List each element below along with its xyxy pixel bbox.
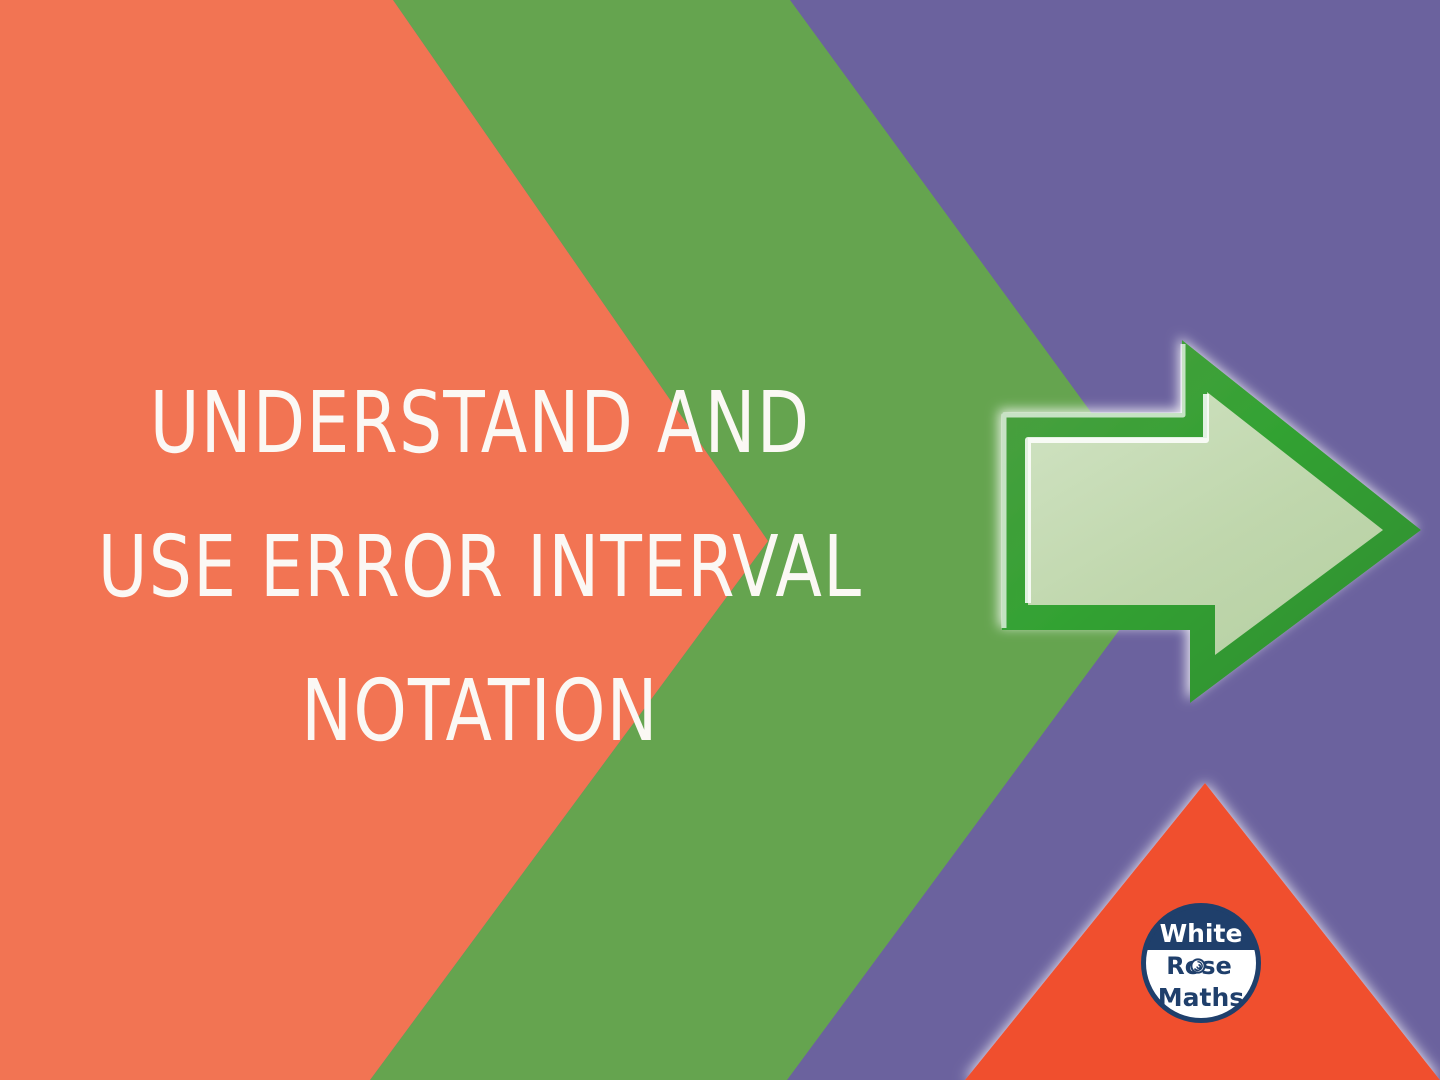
logo-line-3: Maths — [1158, 983, 1244, 1012]
logo-svg: White Rose Maths — [1140, 902, 1262, 1024]
slide-canvas: UNDERSTAND AND USE ERROR INTERVAL NOTATI… — [0, 0, 1440, 1080]
white-rose-maths-logo: White Rose Maths — [1140, 902, 1262, 1024]
logo-line-1: White — [1160, 919, 1243, 948]
rose-spiral-icon — [1190, 958, 1205, 973]
